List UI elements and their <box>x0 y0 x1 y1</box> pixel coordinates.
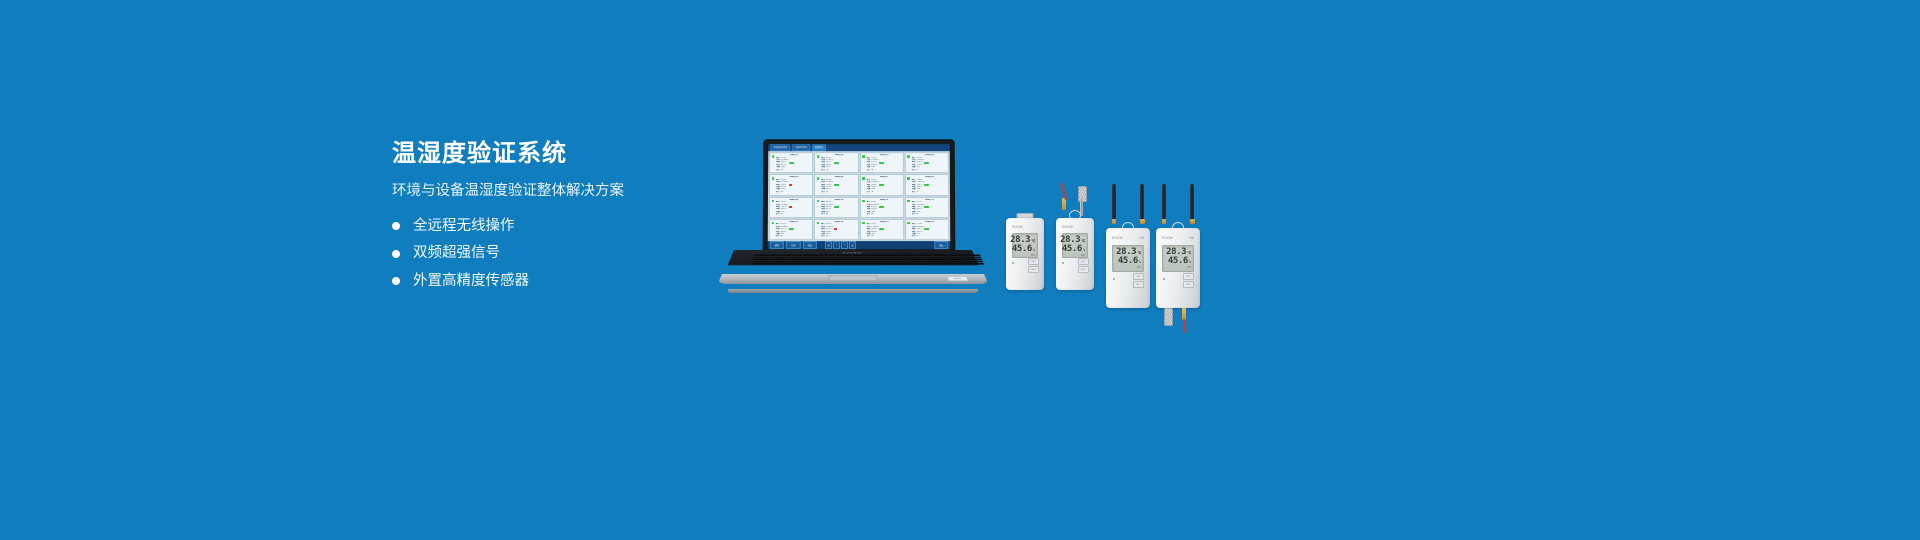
humidity-reading: 45.6 % <box>1165 257 1191 266</box>
sensor-status-led-icon <box>862 222 865 225</box>
sensor-field-value: 强 <box>916 169 918 171</box>
sensor-card[interactable]: 监测点 14编号RT-14时间12:30:05温度25.9℃湿度47.8%电量9… <box>814 219 858 240</box>
sensor-status-led-icon <box>862 155 865 158</box>
sensor-field-label: 信号 <box>821 213 825 215</box>
ok-indicator <box>789 162 794 164</box>
page-button-3[interactable]: 末 <box>849 241 856 249</box>
list-item: 全远程无线操作 <box>392 219 722 234</box>
sensor-field-value: 强 <box>781 235 783 237</box>
sensor-card-row: 信号强 <box>776 169 811 171</box>
sensor-field-value: 强 <box>917 235 919 237</box>
antenna-right-base <box>1140 219 1145 224</box>
sensor-field-value: 强 <box>781 191 783 193</box>
laptop-trackpad[interactable] <box>828 275 877 281</box>
device-wireless-logger: ENOW H8 28.3 ℃ 45.6 % RH SET REC <box>1106 228 1150 308</box>
humidity-reading: 45.6 % <box>1115 257 1141 266</box>
tab-query[interactable]: 数据查询 <box>812 144 826 151</box>
sensor-field-value: 强 <box>917 213 919 215</box>
device-brand-row: ENOW H8 <box>1162 236 1194 240</box>
lcd-display: 28.3 ℃ 45.6 % RH <box>1162 245 1194 272</box>
sensor-card[interactable]: 监测点 06编号RT-06时间12:30:05温度23.9℃湿度45.1%电量9… <box>814 174 858 195</box>
ok-indicator <box>924 206 929 208</box>
sensor-card[interactable]: 监测点 03编号RT-03时间12:30:05温度24.1℃湿度44.8%电量9… <box>859 152 903 173</box>
ok-indicator <box>879 206 884 208</box>
sensor-field-label: 信号 <box>866 169 870 171</box>
antenna-left-base <box>1112 219 1117 224</box>
device-model-label: H8 <box>1139 236 1144 240</box>
sensor-status-led-icon <box>907 155 910 158</box>
bottom-probe-head <box>1164 308 1173 326</box>
humidity-unit: % <box>1033 249 1035 252</box>
sensor-card-row: 信号强 <box>866 191 901 193</box>
sensor-card-row: 信号强 <box>912 235 947 237</box>
sensor-field-label: 信号 <box>912 235 916 237</box>
sensor-field-label: 信号 <box>912 213 916 215</box>
lcd-display: 28.3 ℃ 45.6 % RH <box>1012 233 1038 258</box>
sensor-card[interactable]: 监测点 15编号RT-15时间12:30:05温度24.6℃湿度46.4%电量9… <box>860 219 904 240</box>
sensor-card-grid: 监测点 01编号RT-01时间12:30:05温度23.6℃湿度45.2%电量9… <box>768 151 951 241</box>
page-button-1[interactable]: 1 <box>833 241 840 249</box>
sensor-status-led-icon <box>907 199 910 202</box>
sensor-card[interactable]: 监测点 01编号RT-01时间12:30:05温度23.6℃湿度45.2%电量9… <box>769 152 813 173</box>
sensor-status-led-icon <box>772 177 775 180</box>
humidity-reading: 45.6 % <box>1015 245 1035 254</box>
set-button[interactable]: SET <box>1028 258 1039 265</box>
humidity-unit: % <box>1139 261 1141 264</box>
laptop-screen: 温湿度验证系统 设备实时监控 数据查询 监测点 01编号RT-01时间12:30… <box>768 144 951 249</box>
humidity-value: 45.6 <box>1062 245 1082 254</box>
device-brand-label: ENOW <box>1012 225 1023 229</box>
bullet-dot-icon <box>392 222 400 230</box>
pagination[interactable]: 首12末 <box>825 241 856 249</box>
sensor-card-row: 信号强 <box>912 191 947 193</box>
sensor-field-label: 信号 <box>776 235 780 237</box>
sensor-status-led-icon <box>862 199 865 202</box>
lcd-footer-label: RH <box>1065 254 1085 257</box>
bullet-dot-icon <box>392 250 400 258</box>
sensor-card-row: 信号强 <box>867 213 902 215</box>
sensor-status-led-icon <box>817 222 820 225</box>
laptop-keyboard[interactable] <box>751 255 984 265</box>
device-brand-row: ENOW <box>1012 225 1038 229</box>
sensor-card[interactable]: 监测点 12编号RT-12时间12:30:05温度24.3℃湿度46.2%电量9… <box>905 197 949 218</box>
sensor-field-label: 信号 <box>821 235 825 237</box>
sensor-status-led-icon <box>771 199 774 202</box>
humidity-value: 45.6 <box>1168 257 1188 266</box>
sensor-status-led-icon <box>862 177 865 180</box>
ok-indicator <box>924 162 929 164</box>
print-button[interactable]: 打印 <box>786 241 800 249</box>
set-button[interactable]: SET <box>1133 273 1144 280</box>
refresh-button[interactable]: 更新 <box>770 241 784 249</box>
sensor-status-led-icon <box>907 222 910 225</box>
sensor-field-label: 信号 <box>776 169 780 171</box>
tab-monitor[interactable]: 设备实时监控 <box>792 144 810 151</box>
set-button[interactable]: SET <box>1183 273 1194 280</box>
sensor-card-row: 信号强 <box>821 213 856 215</box>
keyboard-key[interactable] <box>926 263 941 265</box>
sensor-field-label: 信号 <box>821 191 825 193</box>
sensor-card[interactable]: 监测点 11编号RT-11时间12:30:05温度23.4℃湿度44.9%电量9… <box>860 197 904 218</box>
sensor-field-value: 强 <box>826 235 828 237</box>
lcd-display: 28.3 ℃ 45.6 % RH <box>1062 233 1088 258</box>
device-brand-label: ENOW <box>1062 225 1073 229</box>
sensor-card[interactable]: 监测点 10编号RT-10时间12:30:05温度24.0℃湿度45.7%电量9… <box>814 197 858 218</box>
sensor-field-value: 强 <box>871 235 873 237</box>
antenna-left-icon <box>1162 184 1166 220</box>
keyboard-key[interactable] <box>911 263 925 265</box>
device-brand-label: ENOW <box>1112 236 1123 240</box>
antenna-left-base <box>1162 219 1167 224</box>
lcd-footer-label: RH <box>1165 266 1191 269</box>
tab-system[interactable]: 温湿度验证系统 <box>770 144 790 151</box>
sensor-card[interactable]: 监测点 04编号RT-04时间12:30:05温度23.5℃湿度45.9%电量9… <box>905 152 949 173</box>
sensor-field-value: 强 <box>871 191 873 193</box>
device-brand-row: ENOW H8 <box>1112 236 1144 240</box>
sensor-field-label: 信号 <box>821 169 825 171</box>
humidity-value: 45.6 <box>1012 245 1032 254</box>
keyboard-key[interactable] <box>941 263 956 265</box>
device-brand-label: ENOW <box>1162 236 1173 240</box>
record-button[interactable]: REC <box>1183 281 1194 288</box>
antenna-left-icon <box>1112 184 1116 220</box>
sensor-field-label: 信号 <box>776 191 780 193</box>
sensor-card[interactable]: 监测点 05编号RT-05时间12:30:05温度25.2℃湿度47.3%电量9… <box>769 174 813 195</box>
device-probe-logger: ENOW 28.3 ℃ 45.6 % RH SET REC <box>1056 218 1094 290</box>
export-button[interactable]: 导出 <box>803 241 817 249</box>
keyboard-key[interactable] <box>751 263 780 265</box>
bullet-dot-icon <box>392 277 400 285</box>
humidity-value: 45.6 <box>1118 257 1138 266</box>
sensor-card-row: 信号强 <box>821 169 856 171</box>
device-wireless-probe-logger: ENOW H8 28.3 ℃ 45.6 % RH SET REC <box>1156 228 1200 308</box>
laptop-keyboard-deck: HUAWEI <box>728 250 979 265</box>
lcd-footer-label: RH <box>1015 254 1035 257</box>
sensor-field-label: 信号 <box>776 213 780 215</box>
antenna-right-icon <box>1140 184 1144 220</box>
humidity-unit: % <box>1083 249 1085 252</box>
device-model-label: H8 <box>1189 236 1194 240</box>
sensor-field-value: 强 <box>826 213 828 215</box>
sensor-status-led-icon <box>817 155 820 158</box>
app-toolbar: 温湿度验证系统 设备实时监控 数据查询 <box>768 144 949 151</box>
sensor-card[interactable]: 监测点 07编号RT-07时间12:30:05温度24.4℃湿度46.6%电量9… <box>859 174 903 195</box>
temperature-unit: ℃ <box>1137 252 1141 255</box>
device-brand-row: ENOW <box>1062 225 1088 229</box>
antenna-right-icon <box>1190 184 1194 220</box>
list-item: 双频超强信号 <box>392 246 722 261</box>
ok-indicator <box>924 184 929 186</box>
probe-wire <box>1060 182 1066 200</box>
laptop-base: HUAWEI ENOW <box>720 250 986 286</box>
sensor-status-led-icon <box>817 177 820 180</box>
sensor-card[interactable]: 监测点 13编号RT-13时间12:30:05温度23.2℃湿度45.0%电量9… <box>769 219 813 240</box>
humidity-reading: 45.6 % <box>1065 245 1085 254</box>
sensor-card[interactable]: 监测点 08编号RT-08时间12:30:05温度23.7℃湿度45.4%电量9… <box>905 174 949 195</box>
sensor-card-row: 信号强 <box>867 235 902 237</box>
device-handheld-logger: ENOW 28.3 ℃ 45.6 % RH SET REC 手持温湿度记录仪 <box>1006 218 1044 290</box>
ok-indicator <box>879 162 884 164</box>
sensor-field-label: 信号 <box>867 235 871 237</box>
laptop-lid: 温湿度验证系统 设备实时监控 数据查询 监测点 01编号RT-01时间12:30… <box>764 140 955 253</box>
temperature-unit: ℃ <box>1081 240 1085 243</box>
sensor-field-label: 信号 <box>912 191 916 193</box>
sensor-status-led-icon <box>907 177 910 180</box>
keyboard-key[interactable] <box>780 263 794 265</box>
feature-list: 全远程无线操作 双频超强信号 外置高精度传感器 <box>392 219 722 289</box>
sensor-card-row: 信号强 <box>866 169 901 171</box>
page-button-2[interactable]: 2 <box>841 241 848 249</box>
sensor-status-led-icon <box>771 222 774 225</box>
feature-label: 外置高精度传感器 <box>413 274 529 289</box>
laptop-bottom-edge <box>728 289 978 293</box>
sensor-card-row: 信号强 <box>821 235 856 237</box>
ok-indicator <box>834 162 839 164</box>
sensor-status-led-icon <box>817 199 820 202</box>
sensor-card-row: 信号强 <box>912 169 947 171</box>
page-button-0[interactable]: 首 <box>825 241 832 249</box>
feature-label: 双频超强信号 <box>413 246 500 261</box>
laptop-palmrest: ENOW <box>718 274 989 284</box>
sensor-card-row: 信号强 <box>776 213 811 215</box>
exit-button[interactable]: 退出 <box>934 241 948 249</box>
keyboard-key[interactable] <box>795 263 809 265</box>
temperature-unit: ℃ <box>1187 252 1191 255</box>
keyboard-key[interactable] <box>810 263 824 265</box>
ok-indicator <box>879 184 884 186</box>
sensor-field-value: 强 <box>781 169 783 171</box>
sensor-field-label: 信号 <box>866 191 870 193</box>
laptop-sticker: ENOW <box>947 276 969 281</box>
sensor-field-label: 信号 <box>867 213 871 215</box>
sensor-card[interactable]: 监测点 16编号RT-16时间12:30:05温度23.3℃湿度45.5%电量9… <box>905 219 949 240</box>
temperature-unit: ℃ <box>1031 240 1035 243</box>
list-item: 外置高精度传感器 <box>392 274 722 289</box>
sensor-field-value: 强 <box>871 213 873 215</box>
bottom-probe-wire <box>1183 319 1185 333</box>
keyboard-row <box>751 263 984 265</box>
sensor-card-row: 信号强 <box>821 191 856 193</box>
sensor-card-row: 信号强 <box>776 191 811 193</box>
antenna-right-base <box>1190 219 1195 224</box>
sensor-card-row: 信号强 <box>912 213 947 215</box>
record-button[interactable]: REC <box>1028 266 1039 273</box>
marketing-copy: 温湿度验证系统 环境与设备温湿度验证整体解决方案 全远程无线操作 双频超强信号 … <box>392 141 722 301</box>
page-title: 温湿度验证系统 <box>392 141 722 167</box>
sensor-field-value: 强 <box>826 191 828 193</box>
humidity-unit: % <box>1189 261 1191 264</box>
sensor-field-label: 信号 <box>912 169 916 171</box>
sensor-card[interactable]: 监测点 09编号RT-09时间12:30:05温度25.6℃湿度48.1%电量9… <box>769 197 813 218</box>
sensor-field-value: 强 <box>917 191 919 193</box>
sensor-field-value: 强 <box>871 169 873 171</box>
app-footer-toolbar: 更新 打印 导出 首12末 退出 <box>768 241 951 249</box>
feature-label: 全远程无线操作 <box>413 219 515 234</box>
lcd-display: 28.3 ℃ 45.6 % RH <box>1112 245 1144 272</box>
sensor-field-value: 强 <box>826 169 828 171</box>
sensor-card[interactable]: 监测点 02编号RT-02时间12:30:05温度23.8℃湿度46.0%电量9… <box>814 152 858 173</box>
sensor-field-value: 强 <box>781 213 783 215</box>
promo-banner: 温湿度验证系统 环境与设备温湿度验证整体解决方案 全远程无线操作 双频超强信号 … <box>0 0 1920 540</box>
sensor-status-led-icon <box>772 155 775 158</box>
sensor-card-row: 信号强 <box>776 235 811 237</box>
keyboard-key[interactable] <box>955 263 984 265</box>
record-button[interactable]: REC <box>1133 281 1144 288</box>
record-button[interactable]: REC <box>1078 266 1089 273</box>
set-button[interactable]: SET <box>1078 258 1089 265</box>
page-subtitle: 环境与设备温湿度验证整体解决方案 <box>392 183 722 200</box>
laptop-product-image: 温湿度验证系统 设备实时监控 数据查询 监测点 01编号RT-01时间12:30… <box>720 140 986 300</box>
lcd-footer-label: RH <box>1115 266 1141 269</box>
keyboard-key[interactable] <box>825 263 910 265</box>
